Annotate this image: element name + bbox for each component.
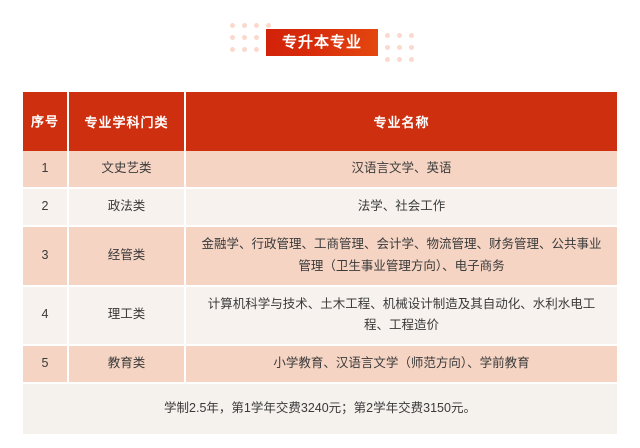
column-header-seq: 序号: [23, 92, 68, 151]
cell-majors: 汉语言文学、英语: [185, 151, 617, 188]
cell-majors: 法学、社会工作: [185, 188, 617, 226]
column-header-major-name: 专业名称: [185, 92, 617, 151]
table-row: 5 教育类 小学教育、汉语言文学（师范方向）、学前教育: [23, 345, 617, 383]
decorative-dot-grid-right-icon: [385, 33, 414, 62]
table-row: 2 政法类 法学、社会工作: [23, 188, 617, 226]
cell-seq: 3: [23, 226, 68, 286]
majors-table-container: 序号 专业学科门类 专业名称 1 文史艺类 汉语言文学、英语 2 政法类 法学、…: [23, 92, 617, 436]
table-body: 1 文史艺类 汉语言文学、英语 2 政法类 法学、社会工作 3 经管类 金融学、…: [23, 151, 617, 435]
majors-table: 序号 专业学科门类 专业名称 1 文史艺类 汉语言文学、英语 2 政法类 法学、…: [23, 92, 617, 436]
cell-seq: 2: [23, 188, 68, 226]
table-header: 序号 专业学科门类 专业名称: [23, 92, 617, 151]
cell-category: 文史艺类: [68, 151, 185, 188]
page-title-badge: 专升本专业: [266, 29, 378, 56]
cell-majors: 计算机科学与技术、土木工程、机械设计制造及其自动化、水利水电工程、工程造价: [185, 286, 617, 346]
cell-seq: 1: [23, 151, 68, 188]
table-row: 3 经管类 金融学、行政管理、工商管理、会计学、物流管理、财务管理、公共事业管理…: [23, 226, 617, 286]
table-header-row: 序号 专业学科门类 专业名称: [23, 92, 617, 151]
cell-majors: 小学教育、汉语言文学（师范方向）、学前教育: [185, 345, 617, 383]
cell-seq: 4: [23, 286, 68, 346]
cell-category: 理工类: [68, 286, 185, 346]
table-row: 4 理工类 计算机科学与技术、土木工程、机械设计制造及其自动化、水利水电工程、工…: [23, 286, 617, 346]
title-banner: 专升本专业: [0, 0, 640, 80]
decorative-dot-grid-left-icon: [230, 23, 271, 52]
column-header-seq-label: 序号: [23, 113, 67, 131]
page-title: 专升本专业: [282, 35, 362, 50]
column-header-category: 专业学科门类: [68, 92, 185, 151]
table-footer-row: 学制2.5年，第1学年交费3240元；第2学年交费3150元。: [23, 383, 617, 435]
cell-majors: 金融学、行政管理、工商管理、会计学、物流管理、财务管理、公共事业管理（卫生事业管…: [185, 226, 617, 286]
cell-seq: 5: [23, 345, 68, 383]
cell-category: 教育类: [68, 345, 185, 383]
table-row: 1 文史艺类 汉语言文学、英语: [23, 151, 617, 188]
cell-category: 经管类: [68, 226, 185, 286]
tuition-note: 学制2.5年，第1学年交费3240元；第2学年交费3150元。: [23, 383, 617, 435]
cell-category: 政法类: [68, 188, 185, 226]
